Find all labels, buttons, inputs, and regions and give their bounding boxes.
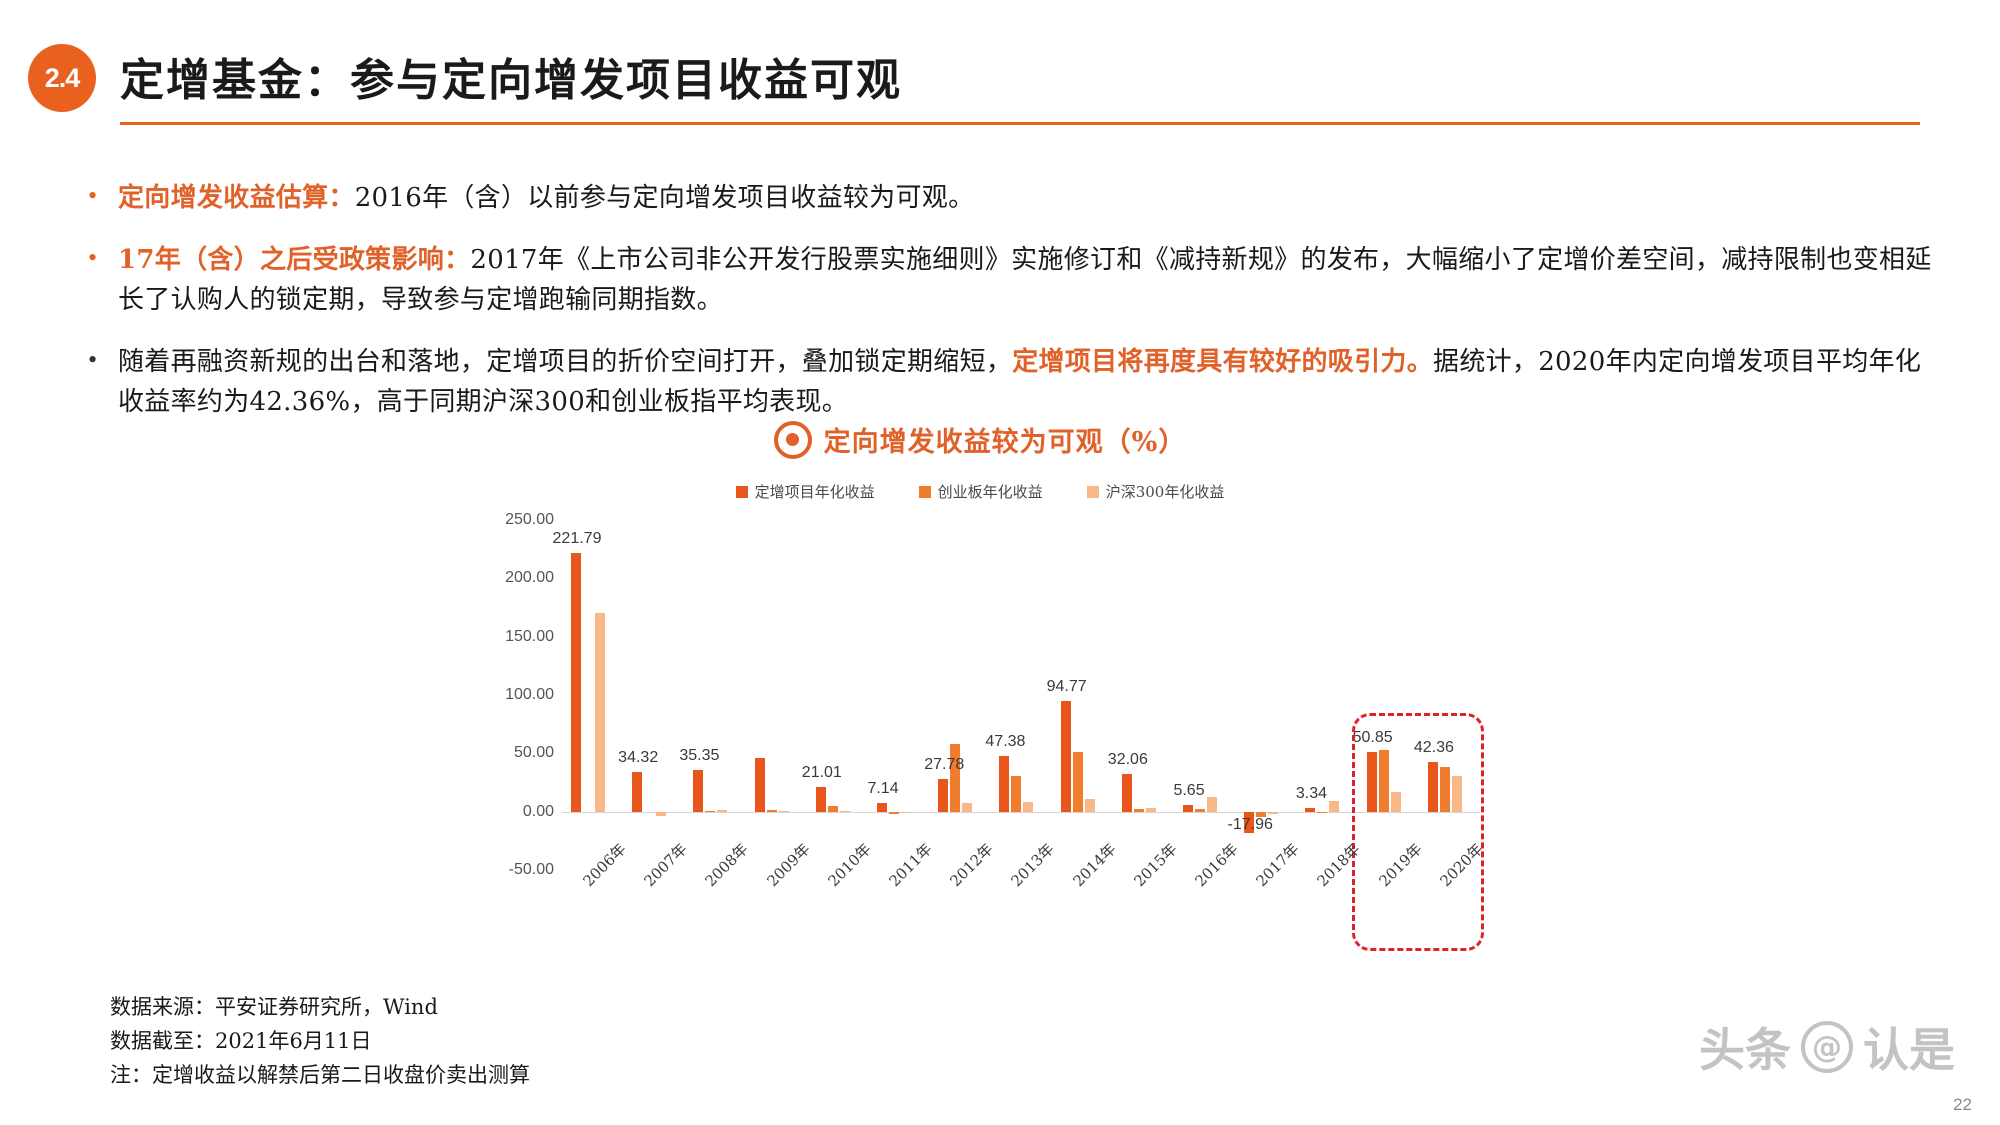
bar-定增项目年化收益: [1428, 762, 1438, 811]
y-tick-label: 250.00: [505, 511, 554, 529]
legend-label: 沪深300年化收益: [1106, 481, 1225, 502]
legend-item-0: 定增项目年化收益: [736, 481, 875, 502]
chart-title-text: 定向增发收益较为可观（%）: [824, 420, 1187, 459]
bullet-marker: •: [88, 240, 118, 276]
watermark: 头条 @ 认是: [1699, 1014, 1955, 1080]
y-tick-label: -50.00: [509, 861, 554, 879]
bullet-1-lead: 定向增发收益估算：: [118, 183, 355, 213]
bullet-text-1: 定向增发收益估算：2016年（含）以前参与定向增发项目收益较为可观。: [118, 178, 974, 218]
bar-group: 27.78: [929, 520, 990, 870]
bar-沪深300年化收益: [1268, 812, 1278, 814]
bar-group: 47.38: [990, 520, 1051, 870]
bar-group: 32.06: [1113, 520, 1174, 870]
x-tick: 2016年: [1174, 872, 1235, 952]
bar-data-label: 47.38: [985, 733, 1025, 751]
bar-创业板年化收益: [767, 810, 777, 811]
bar-data-label: 3.34: [1296, 785, 1327, 803]
x-tick: 2008年: [684, 872, 745, 952]
bar-group: 5.65: [1174, 520, 1235, 870]
bar-创业板年化收益: [950, 744, 960, 811]
y-tick-label: 50.00: [514, 744, 554, 762]
bar-沪深300年化收益: [1085, 799, 1095, 812]
legend-swatch-icon: [919, 486, 931, 498]
bullet-3-pre: 随着再融资新规的出台和落地，定增项目的折价空间打开，叠加锁定期缩短，: [118, 347, 1012, 377]
bar-创业板年化收益: [1073, 752, 1083, 812]
legend-label: 定增项目年化收益: [755, 481, 875, 502]
x-tick: 2010年: [807, 872, 868, 952]
x-tick: 2018年: [1296, 872, 1357, 952]
bar-创业板年化收益: [1440, 767, 1450, 811]
chart-title: 定向增发收益较为可观（%）: [480, 420, 1480, 459]
bars-panel: 221.7934.3235.3521.017.1427.7847.3894.77…: [562, 520, 1480, 870]
watermark-right-text: 认是: [1863, 1014, 1955, 1080]
x-tick: 2009年: [746, 872, 807, 952]
y-tick-label: 150.00: [505, 628, 554, 646]
bar-沪深300年化收益: [1452, 776, 1462, 812]
bar-沪深300年化收益: [779, 811, 789, 812]
watermark-left-text: 头条: [1699, 1014, 1791, 1080]
bar-group: 7.14: [868, 520, 929, 870]
bar-data-label: 5.65: [1173, 782, 1204, 800]
bar-创业板年化收益: [1134, 809, 1144, 811]
bar-data-label: 21.01: [802, 764, 842, 782]
legend-item-2: 沪深300年化收益: [1087, 481, 1225, 502]
bar-沪深300年化收益: [901, 812, 911, 814]
x-tick: 2012年: [929, 872, 990, 952]
y-tick-label: 100.00: [505, 686, 554, 704]
bar-定增项目年化收益: [816, 787, 826, 812]
bar-data-label: -17.96: [1228, 816, 1273, 834]
bar-group: 3.34: [1296, 520, 1357, 870]
bullet-marker: •: [88, 178, 118, 214]
bar-定增项目年化收益: [571, 553, 581, 812]
chart-legend: 定增项目年化收益创业板年化收益沪深300年化收益: [480, 481, 1480, 502]
footer-notes: 数据来源：平安证券研究所，Wind 数据截至：2021年6月11日 注：定增收益…: [110, 990, 530, 1092]
bar-data-label: 94.77: [1047, 678, 1087, 696]
bullet-item-3: • 随着再融资新规的出台和落地，定增项目的折价空间打开，叠加锁定期缩短，定增项目…: [88, 342, 1938, 422]
bar-data-label: 32.06: [1108, 751, 1148, 769]
legend-label: 创业板年化收益: [938, 481, 1043, 502]
bar-data-label: 27.78: [924, 756, 964, 774]
bullet-marker: •: [88, 342, 118, 378]
y-tick-label: 200.00: [505, 569, 554, 587]
x-tick: 2015年: [1113, 872, 1174, 952]
footer-asof: 数据截至：2021年6月11日: [110, 1024, 530, 1058]
bar-创业板年化收益: [889, 812, 899, 814]
bar-创业板年化收益: [828, 806, 838, 812]
chart-plot-area: -50.000.0050.00100.00150.00200.00250.00 …: [480, 520, 1480, 910]
bullet-text-2: 17年（含）之后受政策影响：2017年《上市公司非公开发行股票实施细则》实施修订…: [118, 240, 1938, 320]
x-tick: 2017年: [1235, 872, 1296, 952]
bar-定增项目年化收益: [1061, 701, 1071, 812]
page-number: 22: [1953, 1095, 1972, 1115]
bar-定增项目年化收益: [1367, 752, 1377, 811]
x-tick: 2011年: [868, 872, 929, 952]
footer-note: 注：定增收益以解禁后第二日收盘价卖出测算: [110, 1058, 530, 1092]
bar-定增项目年化收益: [632, 772, 642, 812]
x-tick: 2006年: [562, 872, 623, 952]
bar-data-label: 42.36: [1414, 739, 1454, 757]
bar-data-label: 221.79: [553, 530, 602, 548]
x-tick: 2019年: [1358, 872, 1419, 952]
bar-定增项目年化收益: [755, 758, 765, 812]
bar-group: -17.96: [1235, 520, 1296, 870]
x-tick: 2013年: [990, 872, 1051, 952]
x-tick: 2014年: [1052, 872, 1113, 952]
bar-定增项目年化收益: [999, 756, 1009, 811]
legend-item-1: 创业板年化收益: [919, 481, 1043, 502]
bar-data-label: 34.32: [618, 749, 658, 767]
bullet-list: • 定向增发收益估算：2016年（含）以前参与定向增发项目收益较为可观。 • 1…: [88, 178, 1938, 444]
bar-沪深300年化收益: [1023, 802, 1033, 812]
x-axis-tick-labels: 2006年2007年2008年2009年2010年2011年2012年2013年…: [562, 872, 1480, 952]
bar-创业板年化收益: [1317, 812, 1327, 814]
at-icon: @: [1801, 1021, 1853, 1073]
bar-创业板年化收益: [1195, 809, 1205, 812]
x-tick: 2007年: [623, 872, 684, 952]
bullet-item-1: • 定向增发收益估算：2016年（含）以前参与定向增发项目收益较为可观。: [88, 178, 1938, 218]
bar-沪深300年化收益: [840, 811, 850, 812]
bar-group: 221.79: [562, 520, 623, 870]
bullet-3-highlight: 定增项目将再度具有较好的吸引力。: [1012, 347, 1433, 377]
y-tick-label: 0.00: [523, 803, 554, 821]
bar-定增项目年化收益: [1122, 774, 1132, 811]
legend-swatch-icon: [736, 486, 748, 498]
bar-group: [746, 520, 807, 870]
bullseye-icon: [774, 421, 812, 459]
legend-swatch-icon: [1087, 486, 1099, 498]
bar-group: 94.77: [1052, 520, 1113, 870]
bar-group: 42.36: [1419, 520, 1480, 870]
y-axis-tick-labels: -50.000.0050.00100.00150.00200.00250.00: [480, 520, 554, 870]
bar-groups: 221.7934.3235.3521.017.1427.7847.3894.77…: [562, 520, 1480, 870]
bar-group: 50.85: [1358, 520, 1419, 870]
bullet-2-lead: 17年（含）之后受政策影响：: [118, 245, 470, 275]
bar-data-label: 50.85: [1353, 729, 1393, 747]
bar-group: 35.35: [684, 520, 745, 870]
bar-沪深300年化收益: [962, 803, 972, 811]
bar-创业板年化收益: [1379, 750, 1389, 812]
x-tick: 2020年: [1419, 872, 1480, 952]
bullet-1-rest: 2016年（含）以前参与定向增发项目收益较为可观。: [355, 183, 975, 213]
bullet-text-3: 随着再融资新规的出台和落地，定增项目的折价空间打开，叠加锁定期缩短，定增项目将再…: [118, 342, 1938, 422]
bar-沪深300年化收益: [717, 810, 727, 811]
bar-沪深300年化收益: [1146, 808, 1156, 812]
bar-沪深300年化收益: [1329, 801, 1339, 812]
footer-source: 数据来源：平安证券研究所，Wind: [110, 990, 530, 1024]
bar-沪深300年化收益: [1391, 792, 1401, 812]
bar-沪深300年化收益: [595, 613, 605, 811]
bar-定增项目年化收益: [1305, 808, 1315, 812]
section-number-badge: 2.4: [28, 44, 96, 112]
bar-data-label: 7.14: [867, 780, 898, 798]
bar-定增项目年化收益: [693, 770, 703, 811]
slide-header: 2.4 定增基金：参与定向增发项目收益可观: [0, 0, 2000, 145]
bar-创业板年化收益: [705, 811, 715, 812]
chart-container: 定向增发收益较为可观（%） 定增项目年化收益创业板年化收益沪深300年化收益 -…: [480, 420, 1480, 980]
bar-group: 34.32: [623, 520, 684, 870]
bar-定增项目年化收益: [1183, 805, 1193, 812]
bar-data-label: 35.35: [679, 747, 719, 765]
bar-group: 21.01: [807, 520, 868, 870]
title-underline-rule: [120, 122, 1920, 125]
page-title: 定增基金：参与定向增发项目收益可观: [120, 44, 902, 108]
bar-沪深300年化收益: [1207, 797, 1217, 812]
bar-沪深300年化收益: [656, 812, 666, 816]
bar-定增项目年化收益: [938, 779, 948, 811]
bar-定增项目年化收益: [877, 803, 887, 811]
bullet-item-2: • 17年（含）之后受政策影响：2017年《上市公司非公开发行股票实施细则》实施…: [88, 240, 1938, 320]
bar-创业板年化收益: [1011, 776, 1021, 812]
